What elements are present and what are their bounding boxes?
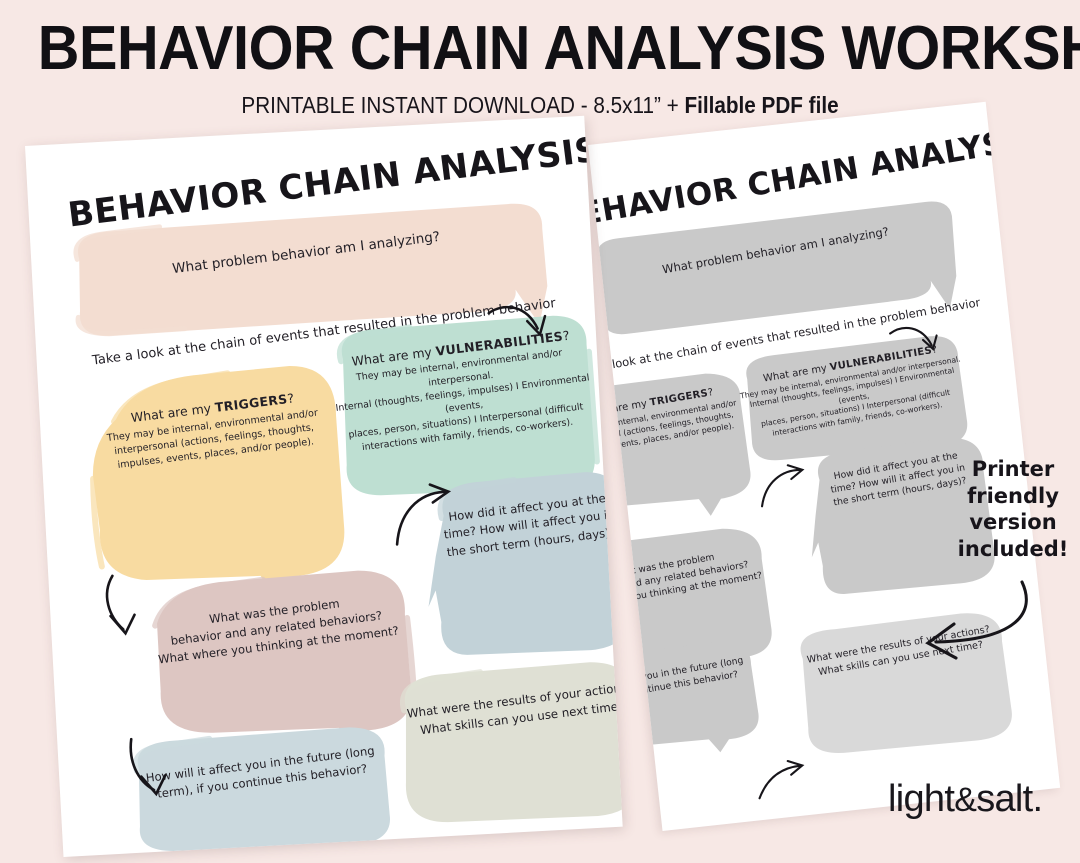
printer-triggers-bubble-shape xyxy=(588,365,761,534)
brand-name-part1: light xyxy=(888,778,954,820)
brand-ampersand: & xyxy=(954,781,976,819)
callout-line-1: Printer xyxy=(952,456,1074,483)
brand-name-part2: salt. xyxy=(976,778,1042,820)
page-header: BEHAVIOR CHAIN ANALYSIS WORKSHEET PRINTA… xyxy=(0,0,1080,132)
callout-curved-arrow-icon xyxy=(910,578,1040,660)
arrow-intro-to-vulnerabilities xyxy=(486,298,554,348)
printer-arrow-to-short-term xyxy=(754,463,814,511)
results-bubble-shape xyxy=(384,655,623,845)
results-bubble[interactable]: What were the results of your actions? W… xyxy=(384,655,623,845)
printer-arrow-to-results xyxy=(752,757,812,805)
page-title: BEHAVIOR CHAIN ANALYSIS WORKSHEET xyxy=(38,0,1042,80)
worksheet-color-sheet[interactable]: BEHAVIOR CHAIN ANALYSIS What problem beh… xyxy=(25,116,623,857)
subtitle-bold-text: Fillable PDF file xyxy=(684,92,838,118)
arrow-problem-to-long-term xyxy=(127,729,183,800)
printer-friendly-callout: Printer friendly version included! xyxy=(952,456,1074,563)
callout-line-2: friendly xyxy=(952,483,1074,510)
printer-arrow-intro xyxy=(887,319,949,365)
callout-line-3: version xyxy=(952,509,1074,536)
callout-line-4: included! xyxy=(952,536,1074,563)
page-subtitle: PRINTABLE INSTANT DOWNLOAD - 8.5x11” + F… xyxy=(54,92,1026,119)
arrow-problem-to-short-term xyxy=(390,483,457,548)
brand-logo: light&salt. xyxy=(888,778,1042,821)
arrow-triggers-to-problem xyxy=(102,570,156,643)
subtitle-plain-text: PRINTABLE INSTANT DOWNLOAD - 8.5x11” + xyxy=(241,92,684,118)
printer-triggers-bubble[interactable]: What are my TRIGGERS? They may be intern… xyxy=(588,365,761,534)
